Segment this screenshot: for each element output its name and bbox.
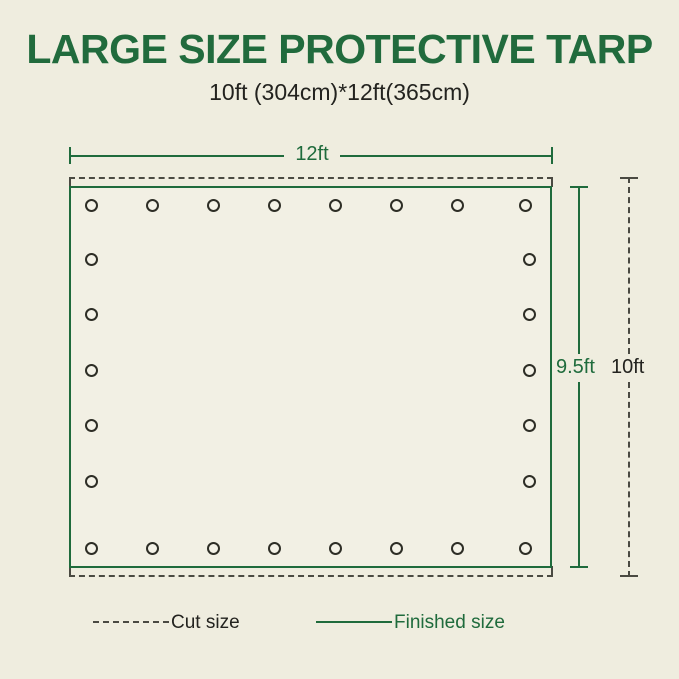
grommet-hole-icon <box>329 199 342 212</box>
legend-finished-size-swatch <box>316 621 392 623</box>
tarp-surface <box>69 186 552 567</box>
grommet-hole-icon <box>85 199 98 212</box>
finished-outline-left-edge <box>69 186 71 568</box>
grommet-hole-icon <box>519 542 532 555</box>
grommet-hole-icon <box>85 253 98 266</box>
cut-height-line-upper <box>628 177 630 354</box>
finished-height-line-upper <box>578 186 580 354</box>
grommet-hole-icon <box>523 419 536 432</box>
finished-outline-bottom-edge <box>69 566 552 568</box>
grommet-hole-icon <box>523 308 536 321</box>
cut-height-line-lower <box>628 382 630 577</box>
grommet-hole-icon <box>451 542 464 555</box>
grommet-hole-icon <box>85 542 98 555</box>
grommet-hole-icon <box>390 542 403 555</box>
grommet-hole-icon <box>207 199 220 212</box>
grommet-hole-icon <box>146 199 159 212</box>
grommet-hole-icon <box>207 542 220 555</box>
legend-cut-size-label: Cut size <box>171 611 240 634</box>
finished-height-line-lower <box>578 382 580 568</box>
grommet-hole-icon <box>268 199 281 212</box>
grommet-hole-icon <box>451 199 464 212</box>
grommet-hole-icon <box>85 419 98 432</box>
grommet-hole-icon <box>523 364 536 377</box>
legend-cut-size-swatch <box>93 621 169 623</box>
width-dimension-label: 12ft <box>284 142 340 166</box>
grommet-hole-icon <box>85 308 98 321</box>
grommet-hole-icon <box>329 542 342 555</box>
grommet-hole-icon <box>146 542 159 555</box>
cut-outline-bottom-edge <box>69 575 553 577</box>
grommet-hole-icon <box>85 475 98 488</box>
grommet-hole-icon <box>519 199 532 212</box>
finished-height-label: 9.5ft <box>556 355 595 379</box>
cut-outline-top-edge <box>69 177 553 179</box>
grommet-hole-icon <box>390 199 403 212</box>
page-title: LARGE SIZE PROTECTIVE TARP <box>0 26 679 72</box>
finished-outline-top-edge <box>69 186 552 188</box>
grommet-hole-icon <box>523 475 536 488</box>
grommet-hole-icon <box>268 542 281 555</box>
finished-outline-right-edge <box>550 186 552 568</box>
grommet-hole-icon <box>85 364 98 377</box>
page-subtitle: 10ft (304cm)*12ft(365cm) <box>0 78 679 106</box>
tarp-spec-illustration: LARGE SIZE PROTECTIVE TARP 10ft (304cm)*… <box>0 0 679 679</box>
legend-finished-size-label: Finished size <box>394 611 505 634</box>
grommet-hole-icon <box>523 253 536 266</box>
cut-height-label: 10ft <box>611 355 644 379</box>
